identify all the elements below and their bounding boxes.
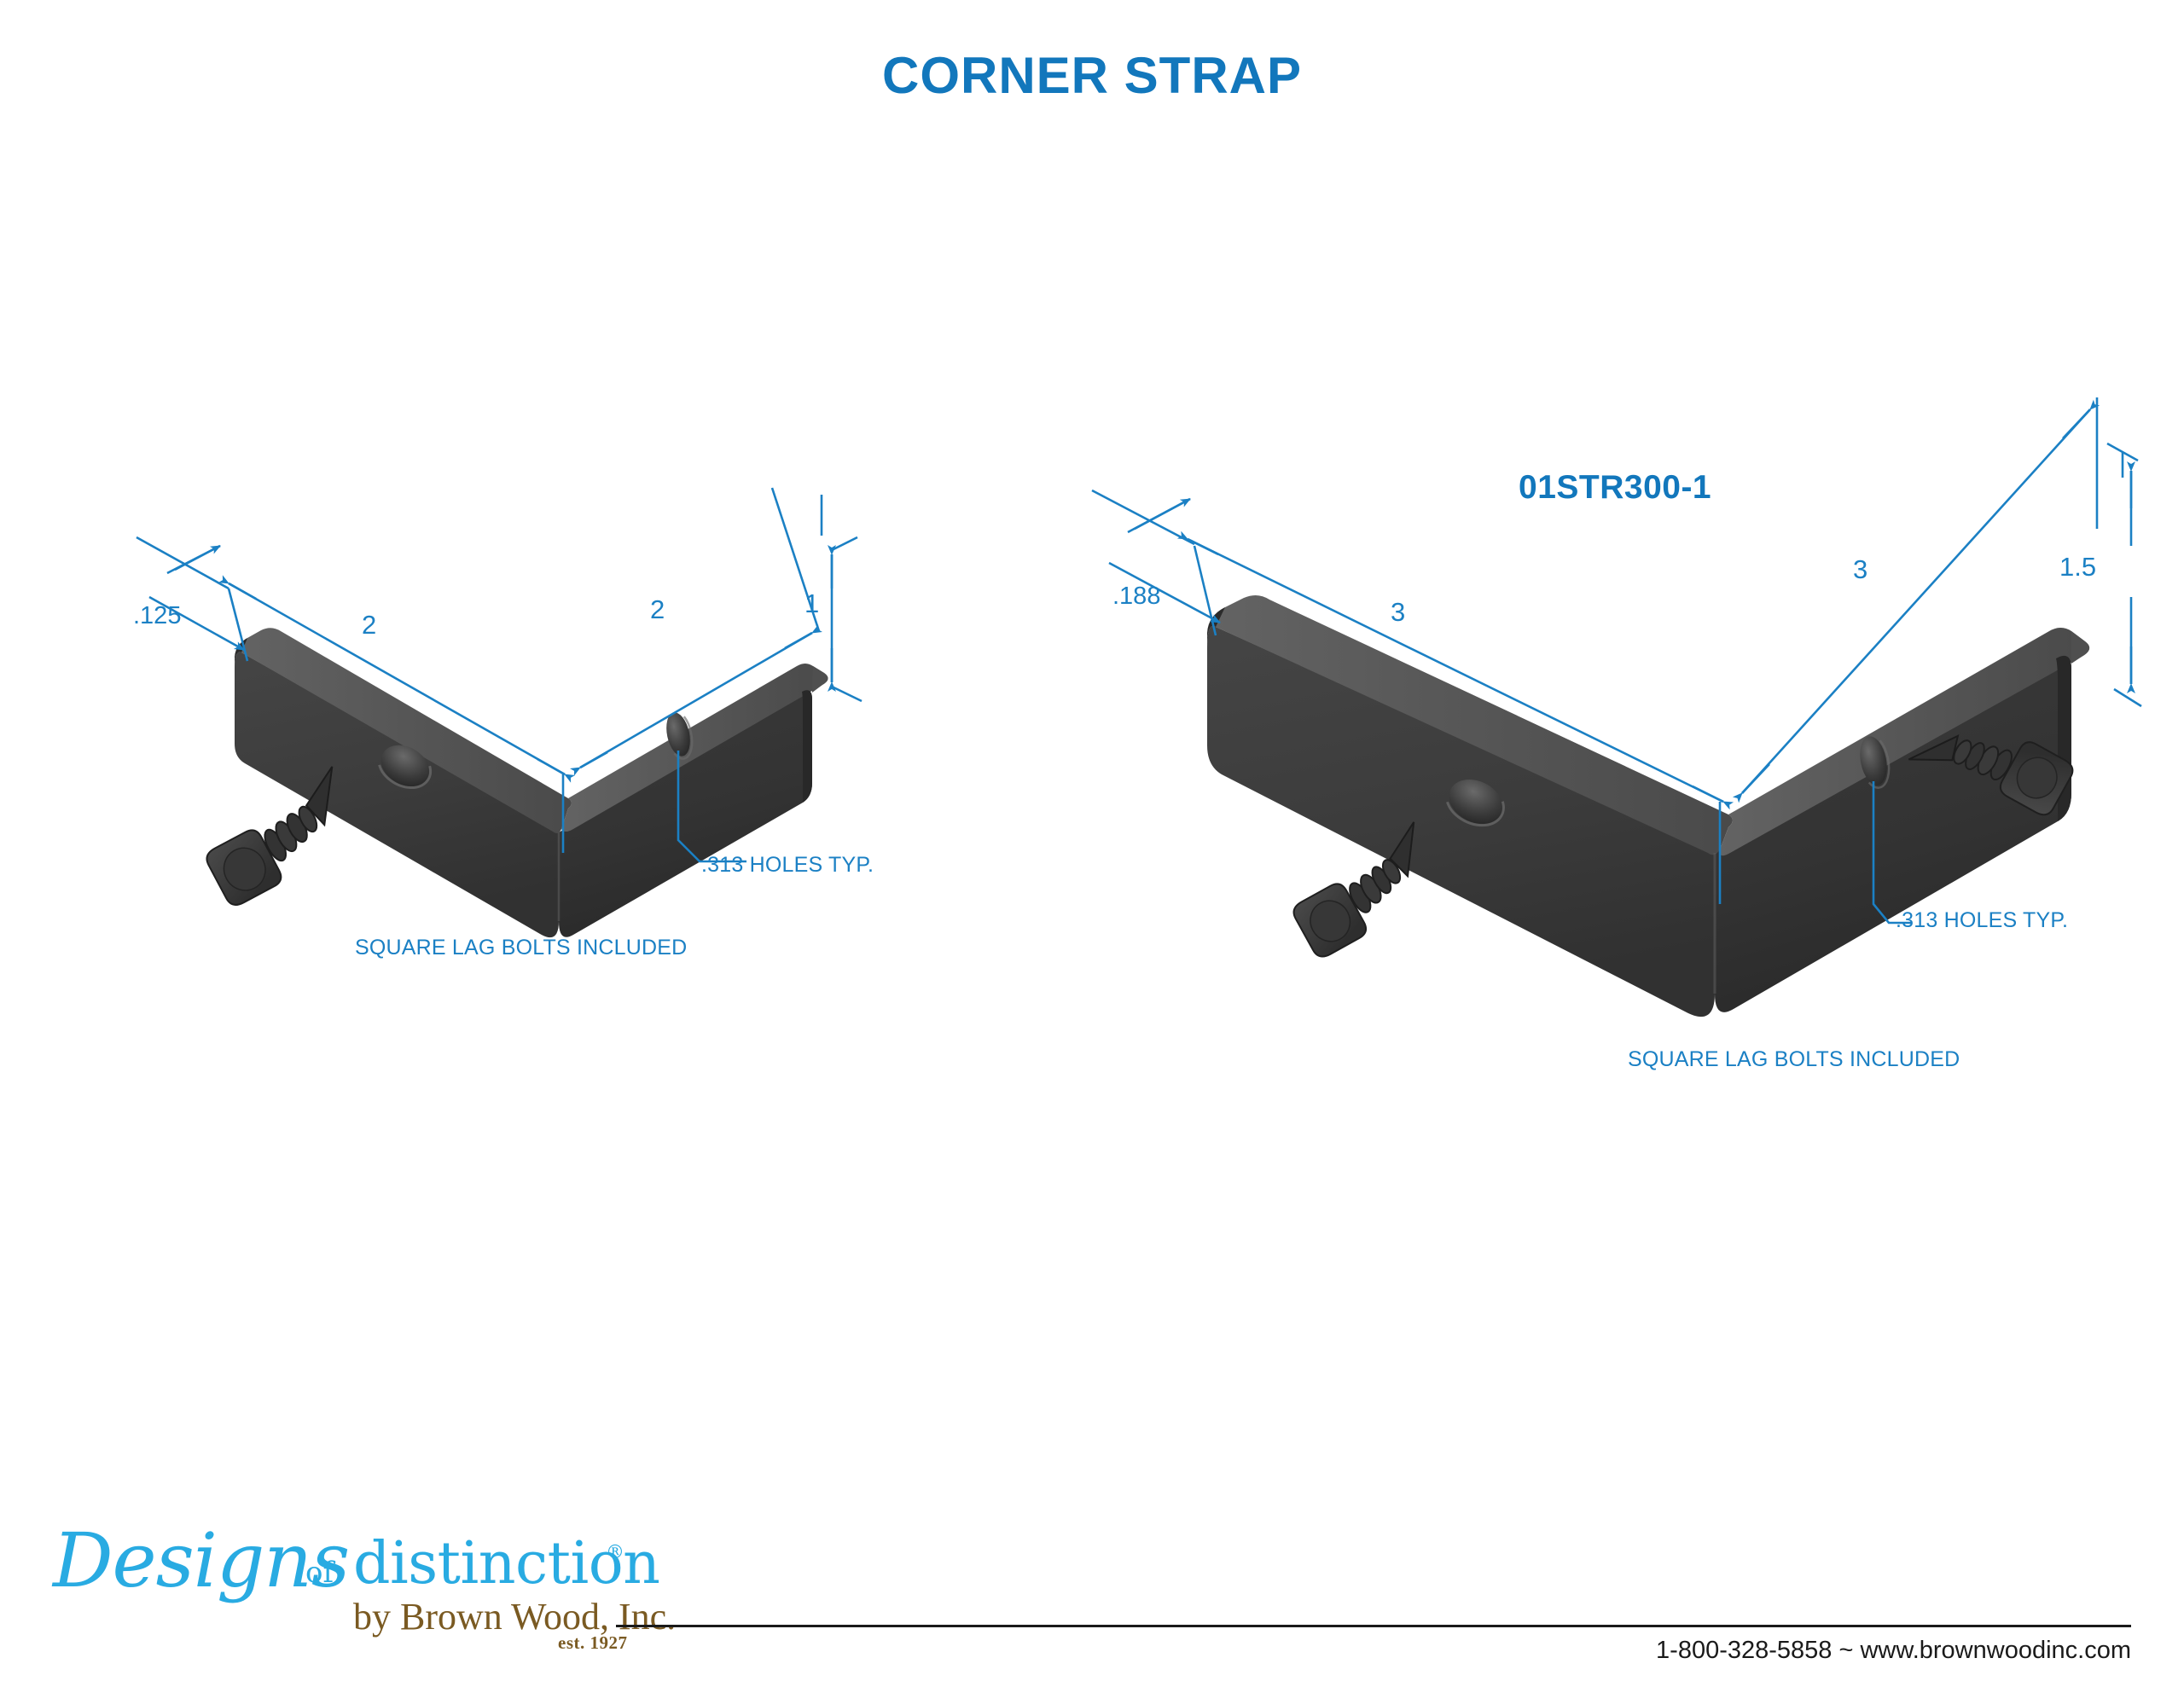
right-bracket-assembly — [1207, 595, 2089, 1017]
left-bracket-body — [235, 628, 828, 937]
r-dim-3L-line — [1188, 539, 1723, 802]
ext-left-top — [229, 588, 247, 661]
left-end-cap — [235, 638, 247, 667]
right-hole-left-arm — [1442, 771, 1510, 832]
bolt-point — [1380, 822, 1436, 879]
right-bracket-body — [1207, 595, 2089, 1017]
r-dim-3R-arr-b — [2063, 409, 2090, 438]
dim-2L-line — [229, 583, 565, 774]
bolt-head — [203, 826, 285, 908]
right-lag-bolt-left — [1282, 822, 1450, 960]
hole-right-arm-highlight — [667, 716, 696, 760]
left-lag-bolt — [195, 767, 369, 909]
left-bracket-holes — [374, 710, 696, 797]
dim-125-lead-a — [175, 546, 220, 570]
bolt-head-face — [2010, 751, 2065, 805]
right-right-end-cap — [2056, 656, 2071, 821]
r-dim-3L-arr-b — [1693, 786, 1723, 802]
r-dim-188-a — [1135, 499, 1190, 529]
right-lag-bolt-right — [1908, 693, 2077, 832]
right-holes-note: .313 HOLES TYP. — [1896, 908, 2068, 933]
right-arm-bevel — [561, 664, 828, 832]
left-arm-face — [235, 652, 559, 938]
right-hole-right-arm — [1856, 734, 1891, 788]
r-dim-3R-line — [1742, 409, 2090, 793]
right-left-end-cap — [1207, 607, 1225, 648]
left-view-dimensions — [136, 488, 862, 861]
right-edge-top — [812, 666, 828, 693]
right-hole-left-highlight — [1443, 780, 1507, 834]
right-dim-right-arm: 3 — [1853, 554, 1867, 585]
dim-2L-arrow-a — [229, 583, 256, 599]
ext-h-bot-tick — [832, 687, 862, 701]
left-bolts-note: SQUARE LAG BOLTS INCLUDED — [355, 936, 687, 960]
r-ext-left-top — [1194, 546, 1216, 635]
dim-2L-arrow-b — [537, 759, 565, 774]
right-right-bevel — [1720, 628, 2089, 855]
bolt-threads — [1344, 857, 1409, 916]
bolt-threads — [1950, 728, 2016, 787]
right-hole-right-highlight — [1862, 739, 1893, 789]
dim-125-lead-b — [167, 546, 220, 573]
left-dim-right-arm: 2 — [650, 594, 665, 625]
left-dim-thickness: .125 — [133, 602, 181, 630]
page-title: CORNER STRAP — [0, 46, 2184, 105]
logo-distinction-text: distinction — [353, 1530, 659, 1597]
r-ext-h-tick-top — [2107, 443, 2138, 461]
bolt-head-face — [1303, 894, 1357, 948]
hole-right-arm — [663, 710, 694, 758]
r-ext-upper — [1092, 490, 1194, 544]
dim-2R-arrow-a — [580, 752, 607, 768]
hole-left-arm-highlight — [375, 745, 434, 797]
footer-contact-info: 1-800-328-5858 ~ www.brownwoodinc.com — [1656, 1637, 2131, 1665]
right-dim-thickness: .188 — [1112, 583, 1160, 611]
r-dim-3R-arr-a — [1742, 764, 1769, 793]
right-arm-face — [559, 690, 812, 936]
right-dim-left-arm: 3 — [1391, 597, 1405, 628]
right-bracket-holes — [1442, 734, 1893, 835]
ext-left-upper — [136, 537, 229, 588]
logo-established-text: est. 1927 — [558, 1632, 628, 1654]
left-holes-note: .313 HOLES TYP. — [701, 853, 874, 878]
bolt-head-face — [217, 841, 273, 898]
right-right-arm-face — [1715, 656, 2071, 1012]
drawing-sheet: CORNER STRAP 01STR300-1 — [0, 0, 2184, 1687]
bolt-head — [1290, 880, 1369, 960]
ext-h-top-tick — [832, 537, 857, 550]
part-number-label: 01STR300-1 — [1519, 469, 1711, 507]
left-arm-bevel — [240, 628, 572, 833]
left-bracket-assembly — [195, 628, 828, 937]
logo-of-text: of — [305, 1556, 334, 1590]
right-left-arm-face — [1207, 626, 1715, 1017]
r-ext-h-tick-bot — [2114, 689, 2141, 706]
left-dim-height: 1 — [804, 588, 819, 619]
company-logo: Designs of distinction ® by Brown Wood, … — [53, 1511, 701, 1648]
right-left-bevel — [1213, 595, 1733, 855]
r-dim-188-b — [1128, 499, 1190, 532]
holes-leader — [678, 751, 746, 861]
right-right-edge-top — [2071, 631, 2089, 664]
right-bolts-note: SQUARE LAG BOLTS INCLUDED — [1628, 1047, 1960, 1072]
right-dim-height: 1.5 — [2059, 552, 2096, 583]
r-holes-leader — [1873, 781, 1911, 923]
right-end-cap — [802, 690, 812, 803]
left-dim-left-arm: 2 — [362, 610, 376, 641]
drawing-canvas — [0, 0, 2184, 1687]
footer-divider — [616, 1625, 2131, 1627]
dim-2R-line — [580, 633, 812, 768]
r-dim-3L-arr-a — [1188, 539, 1218, 554]
dim-2R-arrow-b — [785, 633, 812, 648]
bolt-threads — [258, 804, 326, 864]
bolt-head — [1997, 739, 2077, 819]
hole-left-arm — [374, 737, 437, 795]
bolt-point — [1908, 721, 1964, 778]
logo-registered-mark: ® — [606, 1542, 624, 1563]
bolt-point — [296, 767, 355, 828]
